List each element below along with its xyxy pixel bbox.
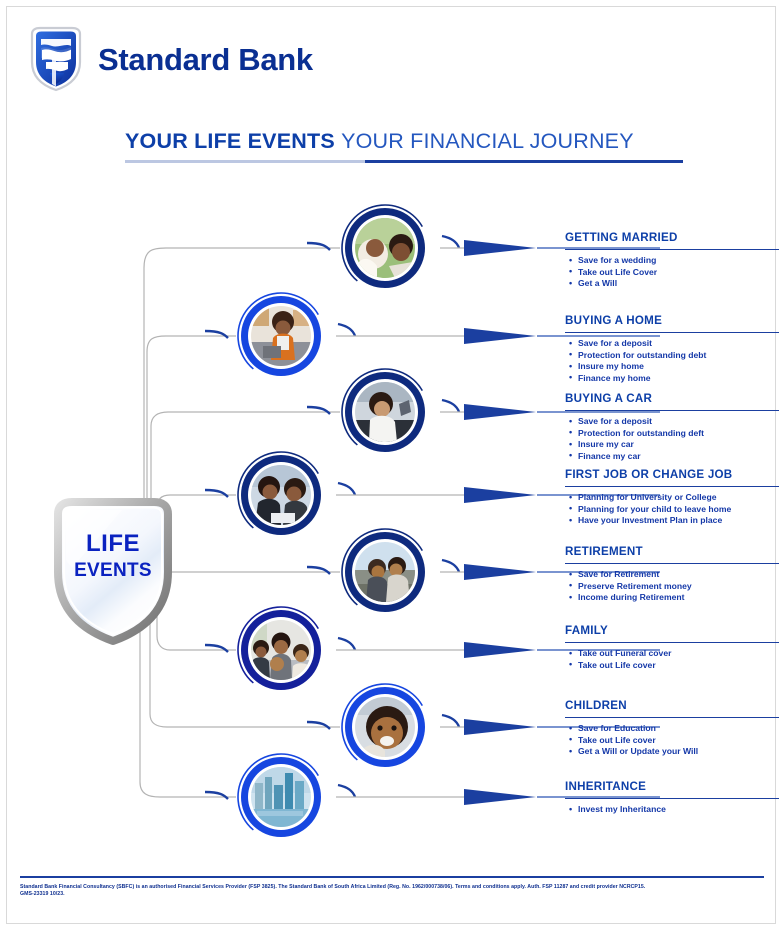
event-bullet-list: Save for a deposit Protection for outsta… <box>565 416 779 462</box>
heading-underline <box>565 798 779 800</box>
list-item: Planning for your child to leave home <box>565 504 779 515</box>
event-photo-retirement[interactable] <box>337 524 433 620</box>
event-heading: CHILDREN <box>565 700 779 713</box>
event-block-family: FAMILY Take out Funeral cover Take out L… <box>565 625 779 671</box>
hub-label-line1: LIFE <box>52 532 174 556</box>
list-item: Protection for outstanding deft <box>565 428 779 439</box>
list-item: Take out Funeral cover <box>565 648 779 659</box>
event-block-getting-married: GETTING MARRIED Save for a wedding Take … <box>565 232 779 290</box>
heading-underline <box>565 410 779 412</box>
list-item: Have your Investment Plan in place <box>565 515 779 526</box>
disclaimer-line-1: Standard Bank Financial Consultancy (SBF… <box>20 884 768 891</box>
event-block-inheritance: INHERITANCE Invest my Inheritance <box>565 781 779 816</box>
event-heading: FIRST JOB OR CHANGE JOB <box>565 469 779 482</box>
list-item: Get a Will <box>565 278 779 289</box>
list-item: Save for a deposit <box>565 416 779 427</box>
heading-underline <box>565 332 779 334</box>
list-item: Save for a wedding <box>565 255 779 266</box>
footer-divider <box>20 876 764 878</box>
event-photo-getting-married[interactable] <box>337 200 433 296</box>
event-heading: BUYING A HOME <box>565 315 779 328</box>
disclaimer-line-2: GMS-23319 10/23. <box>20 891 768 898</box>
list-item: Get a Will or Update your Will <box>565 746 779 757</box>
list-item: Protection for outstanding debt <box>565 350 779 361</box>
event-heading: RETIREMENT <box>565 546 779 559</box>
event-photo-inheritance[interactable] <box>233 749 329 845</box>
event-heading: BUYING A CAR <box>565 393 779 406</box>
event-block-buying-a-car: BUYING A CAR Save for a deposit Protecti… <box>565 393 779 462</box>
event-heading: FAMILY <box>565 625 779 638</box>
list-item: Insure my home <box>565 361 779 372</box>
event-photo-buying-a-home[interactable] <box>233 288 329 384</box>
event-bullet-list: Save for a deposit Protection for outsta… <box>565 338 779 384</box>
list-item: Planning for University or College <box>565 492 779 503</box>
heading-underline <box>565 486 779 488</box>
list-item: Take out Life cover <box>565 735 779 746</box>
heading-underline <box>565 249 779 251</box>
event-photo-children[interactable] <box>337 679 433 775</box>
event-bullet-list: Save for Retirement Preserve Retirement … <box>565 569 779 603</box>
event-heading: INHERITANCE <box>565 781 779 794</box>
life-events-hub-shield: LIFE EVENTS <box>52 498 174 646</box>
event-bullet-list: Save for Education Take out Life cover G… <box>565 723 779 757</box>
event-block-buying-a-home: BUYING A HOME Save for a deposit Protect… <box>565 315 779 384</box>
event-bullet-list: Planning for University or College Plann… <box>565 492 779 526</box>
list-item: Finance my home <box>565 373 779 384</box>
event-block-first-job: FIRST JOB OR CHANGE JOB Planning for Uni… <box>565 469 779 527</box>
list-item: Income during Retirement <box>565 592 779 603</box>
heading-underline <box>565 563 779 565</box>
footer-disclaimer: Standard Bank Financial Consultancy (SBF… <box>20 884 768 898</box>
list-item: Save for Education <box>565 723 779 734</box>
list-item: Take out Life cover <box>565 660 779 671</box>
event-heading: GETTING MARRIED <box>565 232 779 245</box>
event-block-retirement: RETIREMENT Save for Retirement Preserve … <box>565 546 779 604</box>
list-item: Save for Retirement <box>565 569 779 580</box>
list-item: Insure my car <box>565 439 779 450</box>
event-bullet-list: Invest my Inheritance <box>565 804 779 815</box>
event-photo-family[interactable] <box>233 602 329 698</box>
heading-underline <box>565 642 779 644</box>
hub-label: LIFE EVENTS <box>52 532 174 580</box>
infographic-page: Standard Bank YOUR LIFE EVENTS YOUR FINA… <box>0 0 783 931</box>
hub-label-line2: EVENTS <box>52 561 174 580</box>
event-block-children: CHILDREN Save for Education Take out Lif… <box>565 700 779 758</box>
event-photo-first-job[interactable] <box>233 447 329 543</box>
event-bullet-list: Take out Funeral cover Take out Life cov… <box>565 648 779 671</box>
heading-underline <box>565 717 779 719</box>
event-photo-buying-a-car[interactable] <box>337 364 433 460</box>
list-item: Finance my car <box>565 451 779 462</box>
event-bullet-list: Save for a wedding Take out Life Cover G… <box>565 255 779 289</box>
list-item: Preserve Retirement money <box>565 581 779 592</box>
list-item: Save for a deposit <box>565 338 779 349</box>
list-item: Invest my Inheritance <box>565 804 779 815</box>
list-item: Take out Life Cover <box>565 267 779 278</box>
